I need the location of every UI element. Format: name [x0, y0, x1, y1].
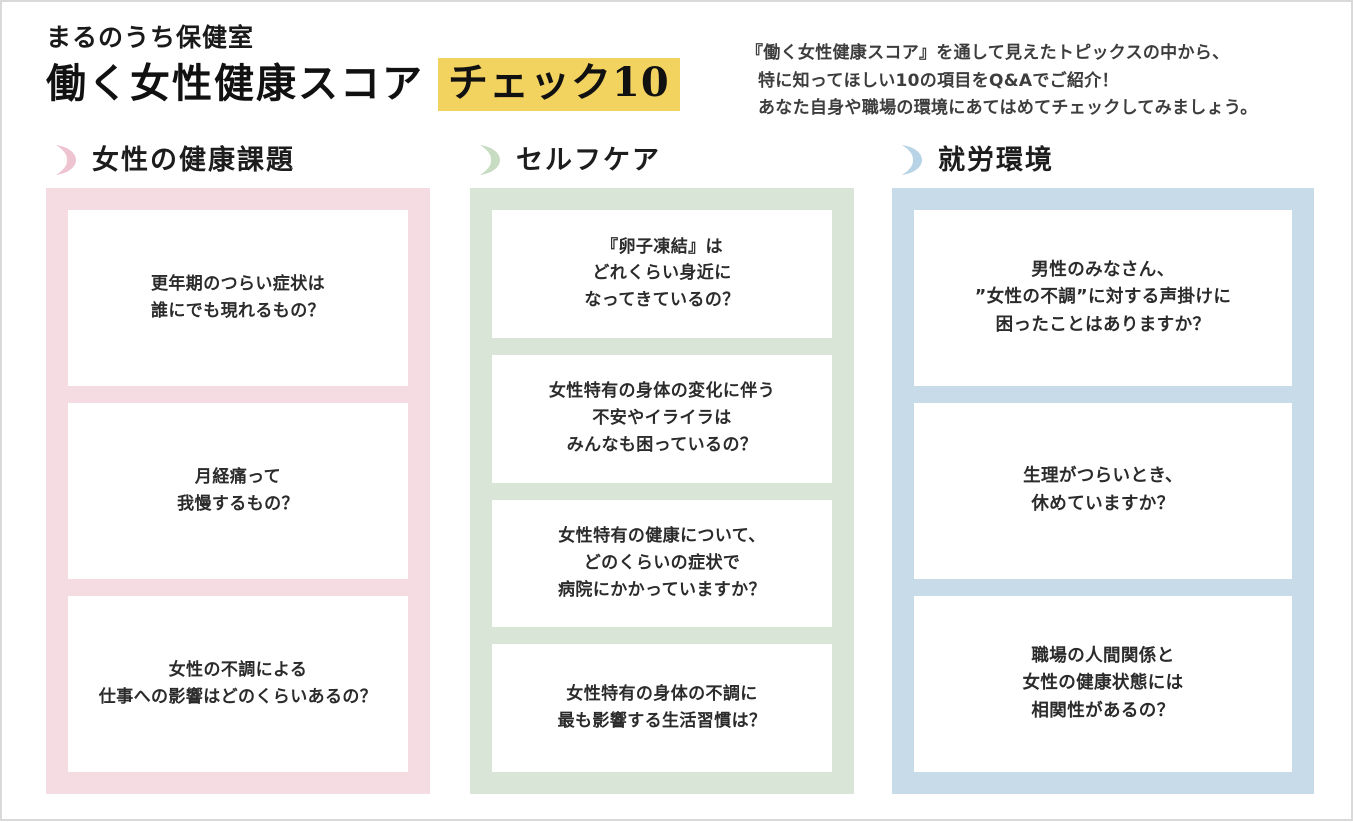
- card-text: 月経痛って 我慢するもの？: [177, 464, 299, 518]
- card-item[interactable]: 女性の不調による 仕事への影響はどのくらいあるの？: [68, 596, 408, 772]
- column-title-2: セルフケア: [516, 147, 661, 174]
- card-item[interactable]: 男性のみなさん、 ”女性の不調”に対する声掛けに 困ったことはありますか？: [914, 210, 1292, 386]
- card-text: 女性の不調による 仕事への影響はどのくらいあるの？: [99, 657, 377, 711]
- lede-line-2: 特に知ってほしい10の項目をQ&Aでご紹介！: [746, 68, 1258, 96]
- card-text: 生理がつらいとき、 休めていますか？: [1023, 463, 1183, 518]
- card-text: 女性特有の身体の変化に伴う 不安やイライラは みんなも困っているの？: [549, 378, 775, 459]
- infographic-poster: まるのうち保健室 働く女性健康スコア チェック10 『働く女性健康スコア』を通し…: [0, 0, 1353, 821]
- card-item[interactable]: 女性特有の身体の変化に伴う 不安やイライラは みんなも困っているの？: [492, 355, 832, 483]
- lede-line-3: あなた自身や職場の環境にあてはめてチェックしてみましょう。: [746, 95, 1258, 123]
- card-item[interactable]: 生理がつらいとき、 休めていますか？: [914, 403, 1292, 579]
- card-item[interactable]: 更年期のつらい症状は 誰にでも現れるもの？: [68, 210, 408, 386]
- crescent-moon-icon: [52, 144, 78, 176]
- crescent-moon-icon: [898, 144, 924, 176]
- lede-line-1: 『働く女性健康スコア』を通して見えたトピックスの中から、: [746, 40, 1258, 68]
- card-text: 『卵子凍結』は どれくらい身近に なってきているの？: [584, 234, 739, 315]
- page-title: 働く女性健康スコア: [46, 61, 424, 107]
- kicker-text: まるのうち保健室: [46, 24, 680, 52]
- column-womens-health-issues: 女性の健康課題 更年期のつらい症状は 誰にでも現れるもの？ 月経痛って 我慢する…: [46, 132, 430, 822]
- column-header-3: 就労環境: [892, 132, 1314, 188]
- columns-container: 女性の健康課題 更年期のつらい症状は 誰にでも現れるもの？ 月経痛って 我慢する…: [2, 132, 1353, 822]
- card-text: 女性特有の健康について、 どのくらいの症状で 病院にかかっていますか？: [558, 523, 766, 604]
- card-text: 女性特有の身体の不調に 最も影響する生活習慣は？: [558, 681, 767, 735]
- card-text: 更年期のつらい症状は 誰にでも現れるもの？: [151, 271, 325, 325]
- panel-self-care: 『卵子凍結』は どれくらい身近に なってきているの？ 女性特有の身体の変化に伴う…: [470, 188, 854, 794]
- column-title-3: 就労環境: [938, 147, 1054, 174]
- card-item[interactable]: 女性特有の身体の不調に 最も影響する生活習慣は？: [492, 644, 832, 772]
- column-title-1: 女性の健康課題: [92, 147, 295, 174]
- panel-work-environment: 男性のみなさん、 ”女性の不調”に対する声掛けに 困ったことはありますか？ 生理…: [892, 188, 1314, 794]
- title-row: 働く女性健康スコア チェック10: [46, 58, 680, 111]
- poster-header: まるのうち保健室 働く女性健康スコア チェック10 『働く女性健康スコア』を通し…: [2, 2, 1353, 130]
- card-item[interactable]: 女性特有の健康について、 どのくらいの症状で 病院にかかっていますか？: [492, 500, 832, 628]
- column-header-1: 女性の健康課題: [46, 132, 430, 188]
- card-text: 職場の人間関係と 女性の健康状態には 相関性があるの？: [1022, 643, 1183, 726]
- check-count-badge: チェック10: [438, 58, 680, 111]
- panel-womens-health-issues: 更年期のつらい症状は 誰にでも現れるもの？ 月経痛って 我慢するもの？ 女性の不…: [46, 188, 430, 794]
- card-text: 男性のみなさん、 ”女性の不調”に対する声掛けに 困ったことはありますか？: [975, 257, 1232, 340]
- card-item[interactable]: 『卵子凍結』は どれくらい身近に なってきているの？: [492, 210, 832, 338]
- card-item[interactable]: 月経痛って 我慢するもの？: [68, 403, 408, 579]
- crescent-moon-icon: [476, 144, 502, 176]
- column-header-2: セルフケア: [470, 132, 854, 188]
- card-item[interactable]: 職場の人間関係と 女性の健康状態には 相関性があるの？: [914, 596, 1292, 772]
- lede-paragraph: 『働く女性健康スコア』を通して見えたトピックスの中から、 特に知ってほしい10の…: [746, 40, 1258, 123]
- title-block: まるのうち保健室 働く女性健康スコア チェック10: [46, 24, 680, 111]
- column-self-care: セルフケア 『卵子凍結』は どれくらい身近に なってきているの？ 女性特有の身体…: [470, 132, 854, 822]
- column-work-environment: 就労環境 男性のみなさん、 ”女性の不調”に対する声掛けに 困ったことはあります…: [892, 132, 1314, 822]
